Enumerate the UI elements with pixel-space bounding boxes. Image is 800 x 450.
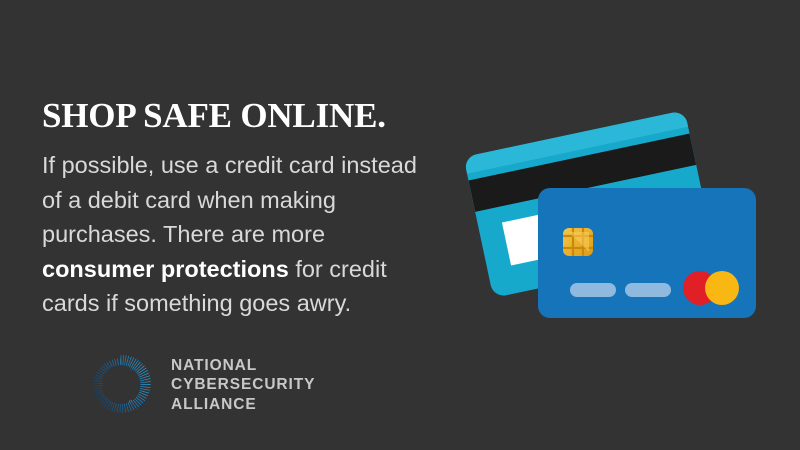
organization-logo: NATIONAL CYBERSECURITY ALLIANCE [88, 352, 315, 418]
page-title: SHOP SAFE ONLINE. [42, 96, 452, 136]
emv-chip-icon [563, 228, 593, 256]
body-copy: If possible, use a credit card instead o… [42, 148, 442, 321]
logo-line-1: NATIONAL [171, 356, 315, 376]
logo-line-3: ALLIANCE [171, 395, 315, 415]
body-copy-emphasis: consumer protections [42, 256, 289, 282]
credit-cards-illustration [460, 110, 790, 340]
organization-name: NATIONAL CYBERSECURITY ALLIANCE [171, 356, 315, 415]
body-copy-part1: If possible, use a credit card instead o… [42, 152, 417, 247]
card-detail-bar-2 [625, 283, 671, 297]
card-detail-bar-1 [570, 283, 616, 297]
card-network-logo-icon [683, 271, 739, 305]
logo-line-2: CYBERSECURITY [171, 375, 315, 395]
nca-swirl-icon [88, 352, 154, 418]
poster-canvas: SHOP SAFE ONLINE. If possible, use a cre… [0, 0, 800, 450]
text-block: SHOP SAFE ONLINE. If possible, use a cre… [42, 96, 452, 321]
credit-card-front [538, 188, 756, 318]
